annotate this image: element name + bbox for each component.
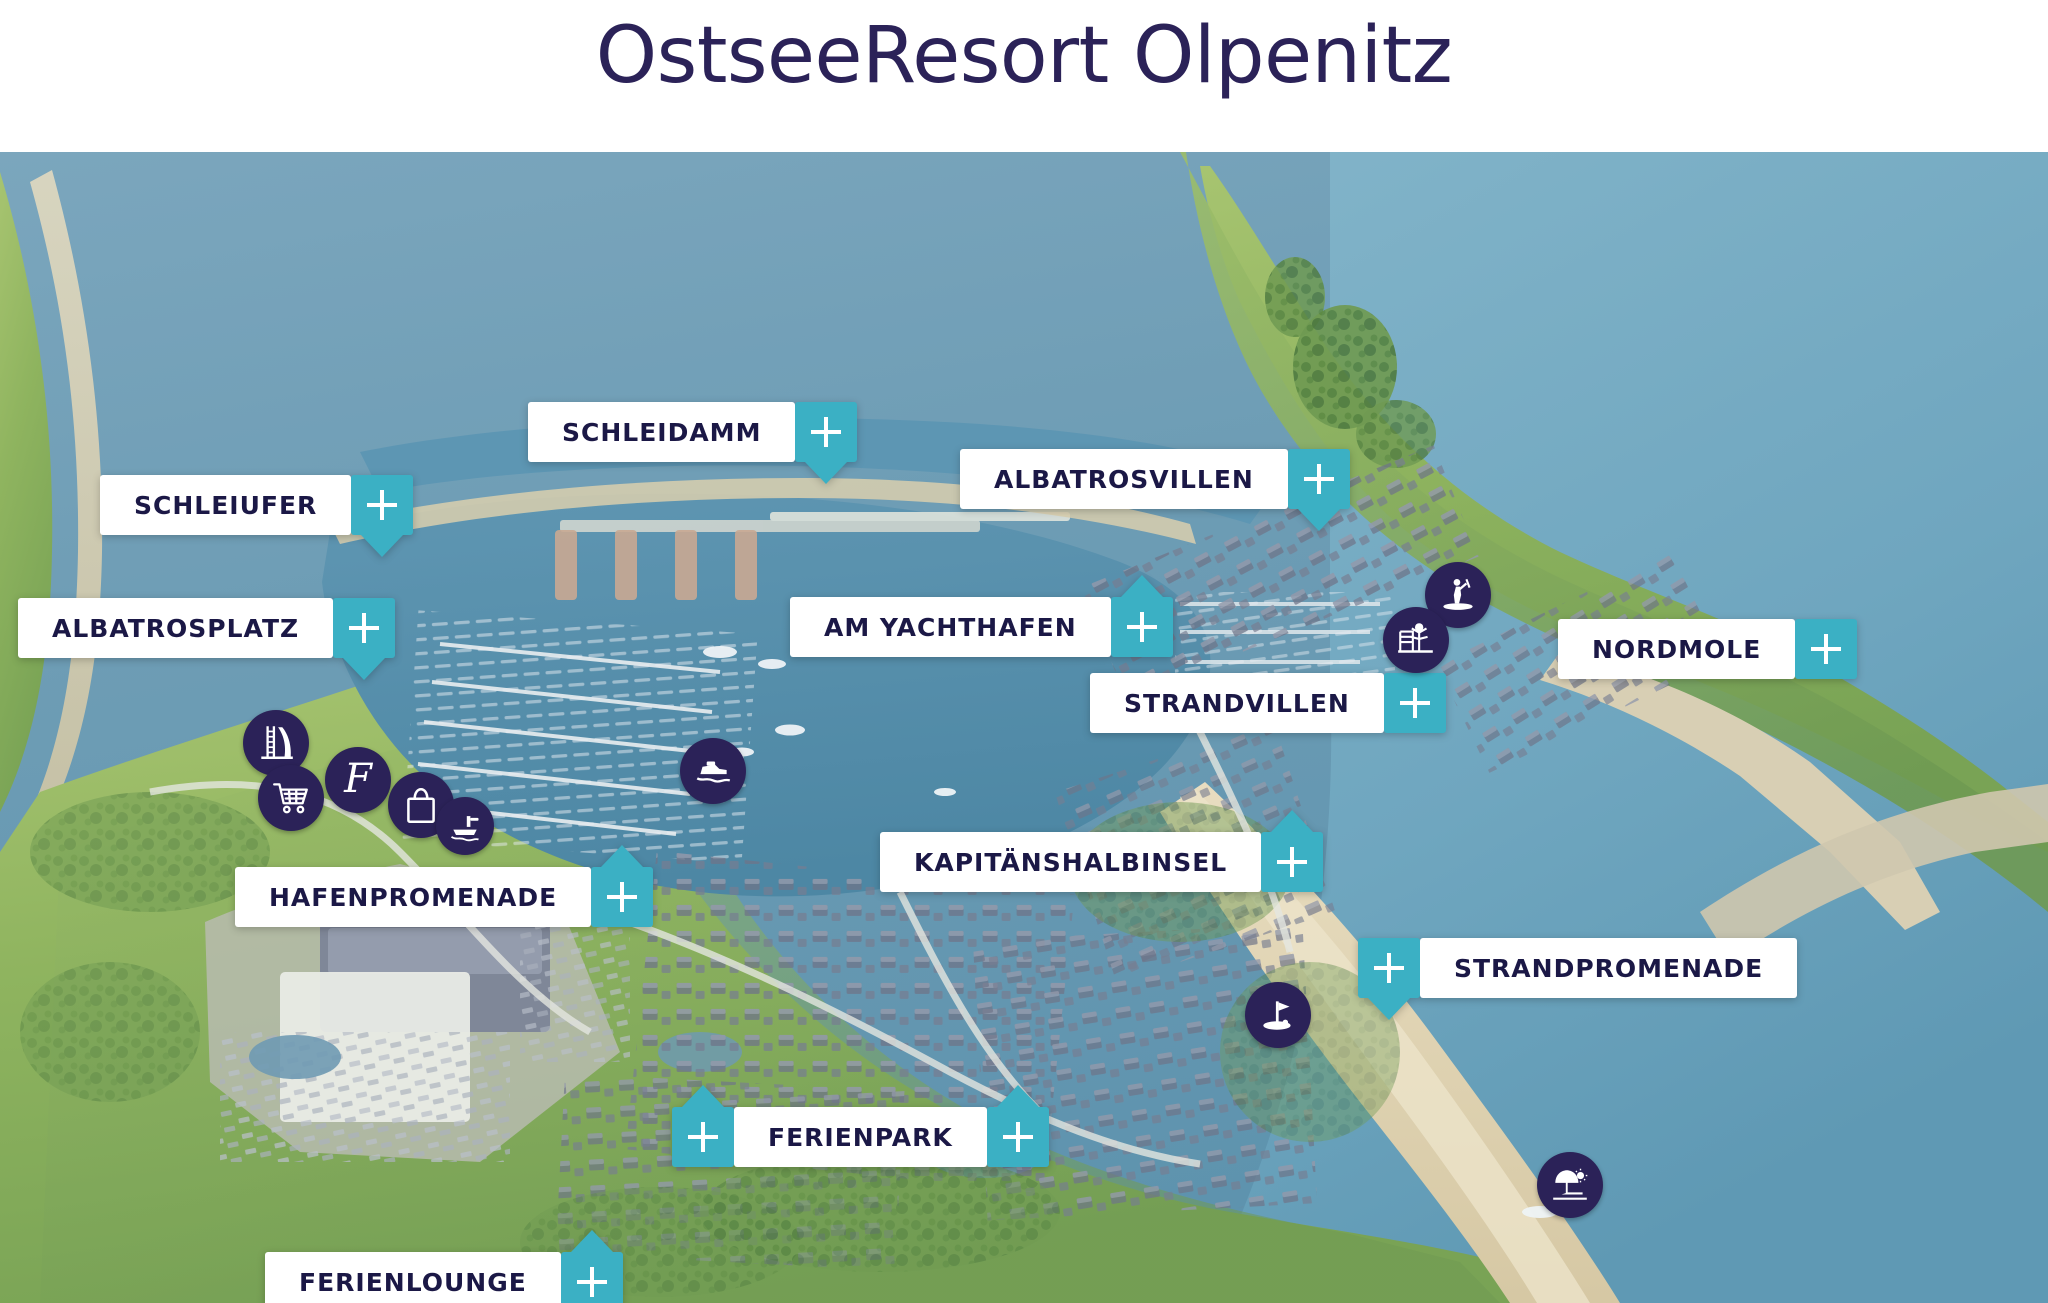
hotspot-label: HAFENPROMENADE (235, 867, 591, 927)
ferry-icon (447, 808, 483, 844)
hotspot-label: KAPITÄNSHALBINSEL (880, 832, 1261, 892)
hotspot-label: ALBATROSPLATZ (18, 598, 333, 658)
golf-icon (1257, 994, 1299, 1036)
plus-button[interactable] (351, 475, 413, 535)
hotspot-strandvillen[interactable]: STRANDVILLEN (1090, 673, 1446, 733)
shopping-cart-icon (270, 777, 312, 819)
plus-icon (1400, 688, 1430, 718)
hotspot-schleidamm[interactable]: SCHLEIDAMM (528, 402, 857, 462)
plus-button[interactable] (1261, 832, 1323, 892)
plus-button-left[interactable] (672, 1107, 734, 1167)
hotspot-schleiufer[interactable]: SCHLEIUFER (100, 475, 413, 535)
page-title: OstseeResort Olpenitz (0, 14, 2048, 100)
plus-button[interactable] (1358, 938, 1420, 998)
hotspot-ferienlounge[interactable]: FERIENLOUNGE (265, 1252, 623, 1303)
plus-button[interactable] (1384, 673, 1446, 733)
plus-icon (1374, 953, 1404, 983)
marker-playground[interactable] (1383, 607, 1449, 673)
plus-icon (367, 490, 397, 520)
plus-button[interactable] (1111, 597, 1173, 657)
hotspot-label: STRANDPROMENADE (1420, 938, 1797, 998)
plus-button[interactable] (1795, 619, 1857, 679)
motorboat-icon (692, 750, 734, 792)
plus-icon (1127, 612, 1157, 642)
plus-icon (688, 1122, 718, 1152)
hotspot-albatrosvillen[interactable]: ALBATROSVILLEN (960, 449, 1350, 509)
plus-button[interactable] (333, 598, 395, 658)
wellness-f-icon: F (344, 759, 372, 799)
hotspot-label: SCHLEIDAMM (528, 402, 795, 462)
marker-wellness[interactable]: F (325, 747, 391, 813)
plus-icon (349, 613, 379, 643)
hotspot-strandpromenade[interactable]: STRANDPROMENADE (1358, 938, 1797, 998)
plus-button[interactable] (795, 402, 857, 462)
hotspot-label: ALBATROSVILLEN (960, 449, 1288, 509)
hotspot-hafenpromenade[interactable]: HAFENPROMENADE (235, 867, 653, 927)
resort-map[interactable]: SCHLEIDAMM SCHLEIUFER ALBATROSVILLEN ALB… (0, 152, 2048, 1303)
marker-ferry[interactable] (436, 797, 494, 855)
hotspot-label: STRANDVILLEN (1090, 673, 1384, 733)
plus-icon (607, 882, 637, 912)
hotspot-ferienpark[interactable]: FERIENPARK (672, 1107, 1049, 1167)
waterslide-icon (255, 722, 297, 764)
paddleboard-icon (1437, 574, 1479, 616)
hotspot-nordmole[interactable]: NORDMOLE (1558, 619, 1857, 679)
plus-button-right[interactable] (987, 1107, 1049, 1167)
plus-icon (1003, 1122, 1033, 1152)
plus-button[interactable] (1288, 449, 1350, 509)
page-root: OstseeResort Olpenitz (0, 0, 2048, 1303)
marker-motorboat[interactable] (680, 738, 746, 804)
marker-beach[interactable] (1537, 1152, 1603, 1218)
plus-icon (1304, 464, 1334, 494)
marker-shopping[interactable] (258, 765, 324, 831)
hotspot-label: FERIENPARK (734, 1107, 987, 1167)
hotspot-label: NORDMOLE (1558, 619, 1795, 679)
hotspot-kapitaenshalbinsel[interactable]: KAPITÄNSHALBINSEL (880, 832, 1323, 892)
plus-button[interactable] (561, 1252, 623, 1303)
plus-icon (1277, 847, 1307, 877)
hotspot-label: SCHLEIUFER (100, 475, 351, 535)
hotspot-albatrosplatz[interactable]: ALBATROSPLATZ (18, 598, 395, 658)
hotspot-am-yachthafen[interactable]: AM YACHTHAFEN (790, 597, 1173, 657)
plus-icon (1811, 634, 1841, 664)
hotspot-label: AM YACHTHAFEN (790, 597, 1111, 657)
plus-button[interactable] (591, 867, 653, 927)
marker-golf[interactable] (1245, 982, 1311, 1048)
beach-umbrella-icon (1549, 1164, 1591, 1206)
plus-icon (811, 417, 841, 447)
hotspot-label: FERIENLOUNGE (265, 1252, 561, 1303)
playground-icon (1395, 619, 1437, 661)
plus-icon (577, 1267, 607, 1297)
